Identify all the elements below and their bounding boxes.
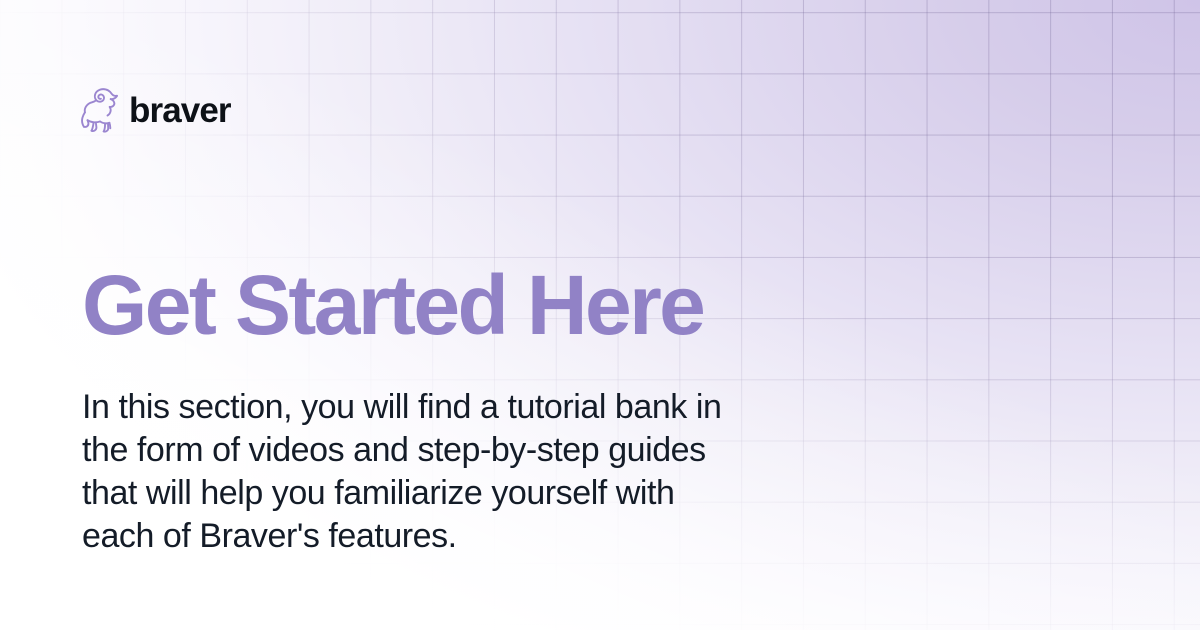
get-started-banner: braver Get Started Here In this section,… — [0, 0, 1200, 630]
hero-description-line: that will help you familiarize yourself … — [82, 472, 872, 515]
brand-name: braver — [129, 93, 231, 128]
hero-description-line: each of Braver's features. — [82, 515, 872, 558]
banner-content: braver Get Started Here In this section,… — [0, 0, 1200, 630]
goat-ram-logo-icon — [80, 86, 120, 134]
hero-description-line: In this section, you will find a tutoria… — [82, 386, 872, 429]
page-title: Get Started Here — [82, 263, 703, 347]
hero-description-line: the form of videos and step-by-step guid… — [82, 429, 872, 472]
hero-description: In this section, you will find a tutoria… — [82, 386, 872, 558]
brand-logo: braver — [80, 86, 231, 134]
